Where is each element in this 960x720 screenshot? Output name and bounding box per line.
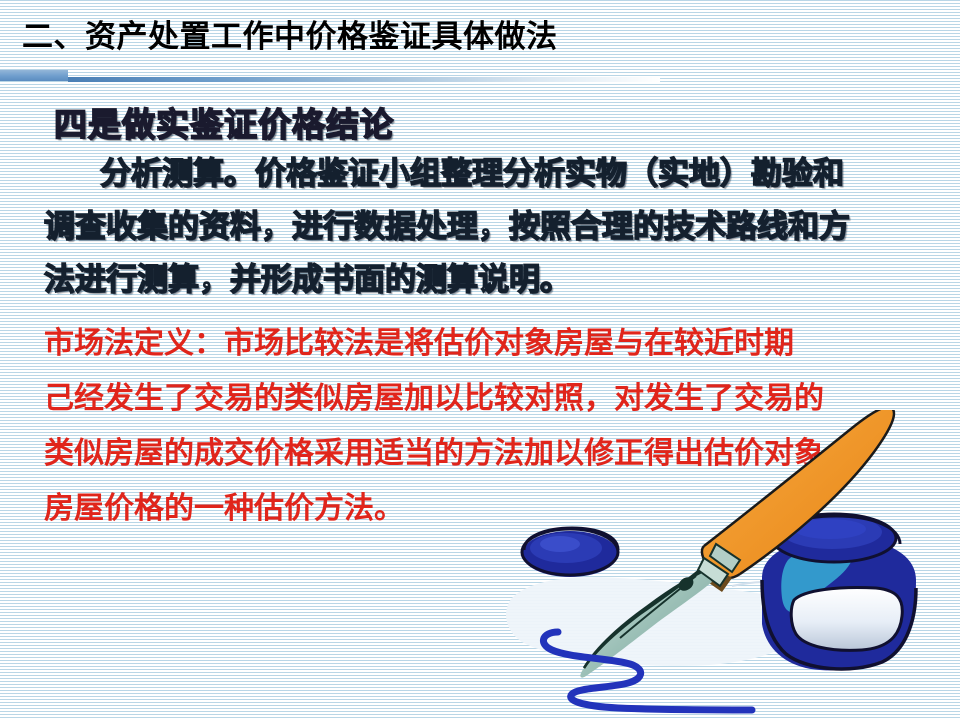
presentation-slide: 二、资产处置工作中价格鉴证具体做法 四是做实鉴证价格结论 分析测算。价格鉴证小组… [0, 0, 960, 720]
separator-line [68, 77, 660, 82]
definition-text-line: 房屋价格的一种估价方法。 [44, 483, 404, 527]
inkwell-lid-icon [522, 528, 618, 577]
slide-title-block: 二、资产处置工作中价格鉴证具体做法 [0, 16, 960, 66]
inkwell-jar-icon [762, 514, 916, 670]
definition-text-line: 类似房屋的成交价格采用适当的方法加以修正得出估价对象 [44, 428, 824, 472]
body-text-line: 分析测算。价格鉴证小组整理分析实物（实地）勘验和 [100, 148, 844, 193]
ink-squiggle-icon [543, 632, 752, 710]
separator-block [0, 70, 68, 81]
section-subtitle: 四是做实鉴证价格结论 [54, 98, 394, 146]
title-separator [0, 70, 960, 84]
body-text-line: 法进行测算，并形成书面的测算说明。 [44, 254, 571, 299]
definition-text-line: 己经发生了交易的类似房屋加以比较对照，对发生了交易的 [44, 373, 824, 417]
paper-sheet-icon [506, 577, 823, 666]
body-text-line: 调查收集的资料，进行数据处理，按照合理的技术路线和方 [44, 201, 850, 246]
page-title: 二、资产处置工作中价格鉴证具体做法 [22, 16, 558, 58]
pen-nib-icon [580, 544, 740, 678]
definition-text-line: 市场法定义：市场比较法是将估价对象房屋与在较近时期 [44, 318, 794, 362]
